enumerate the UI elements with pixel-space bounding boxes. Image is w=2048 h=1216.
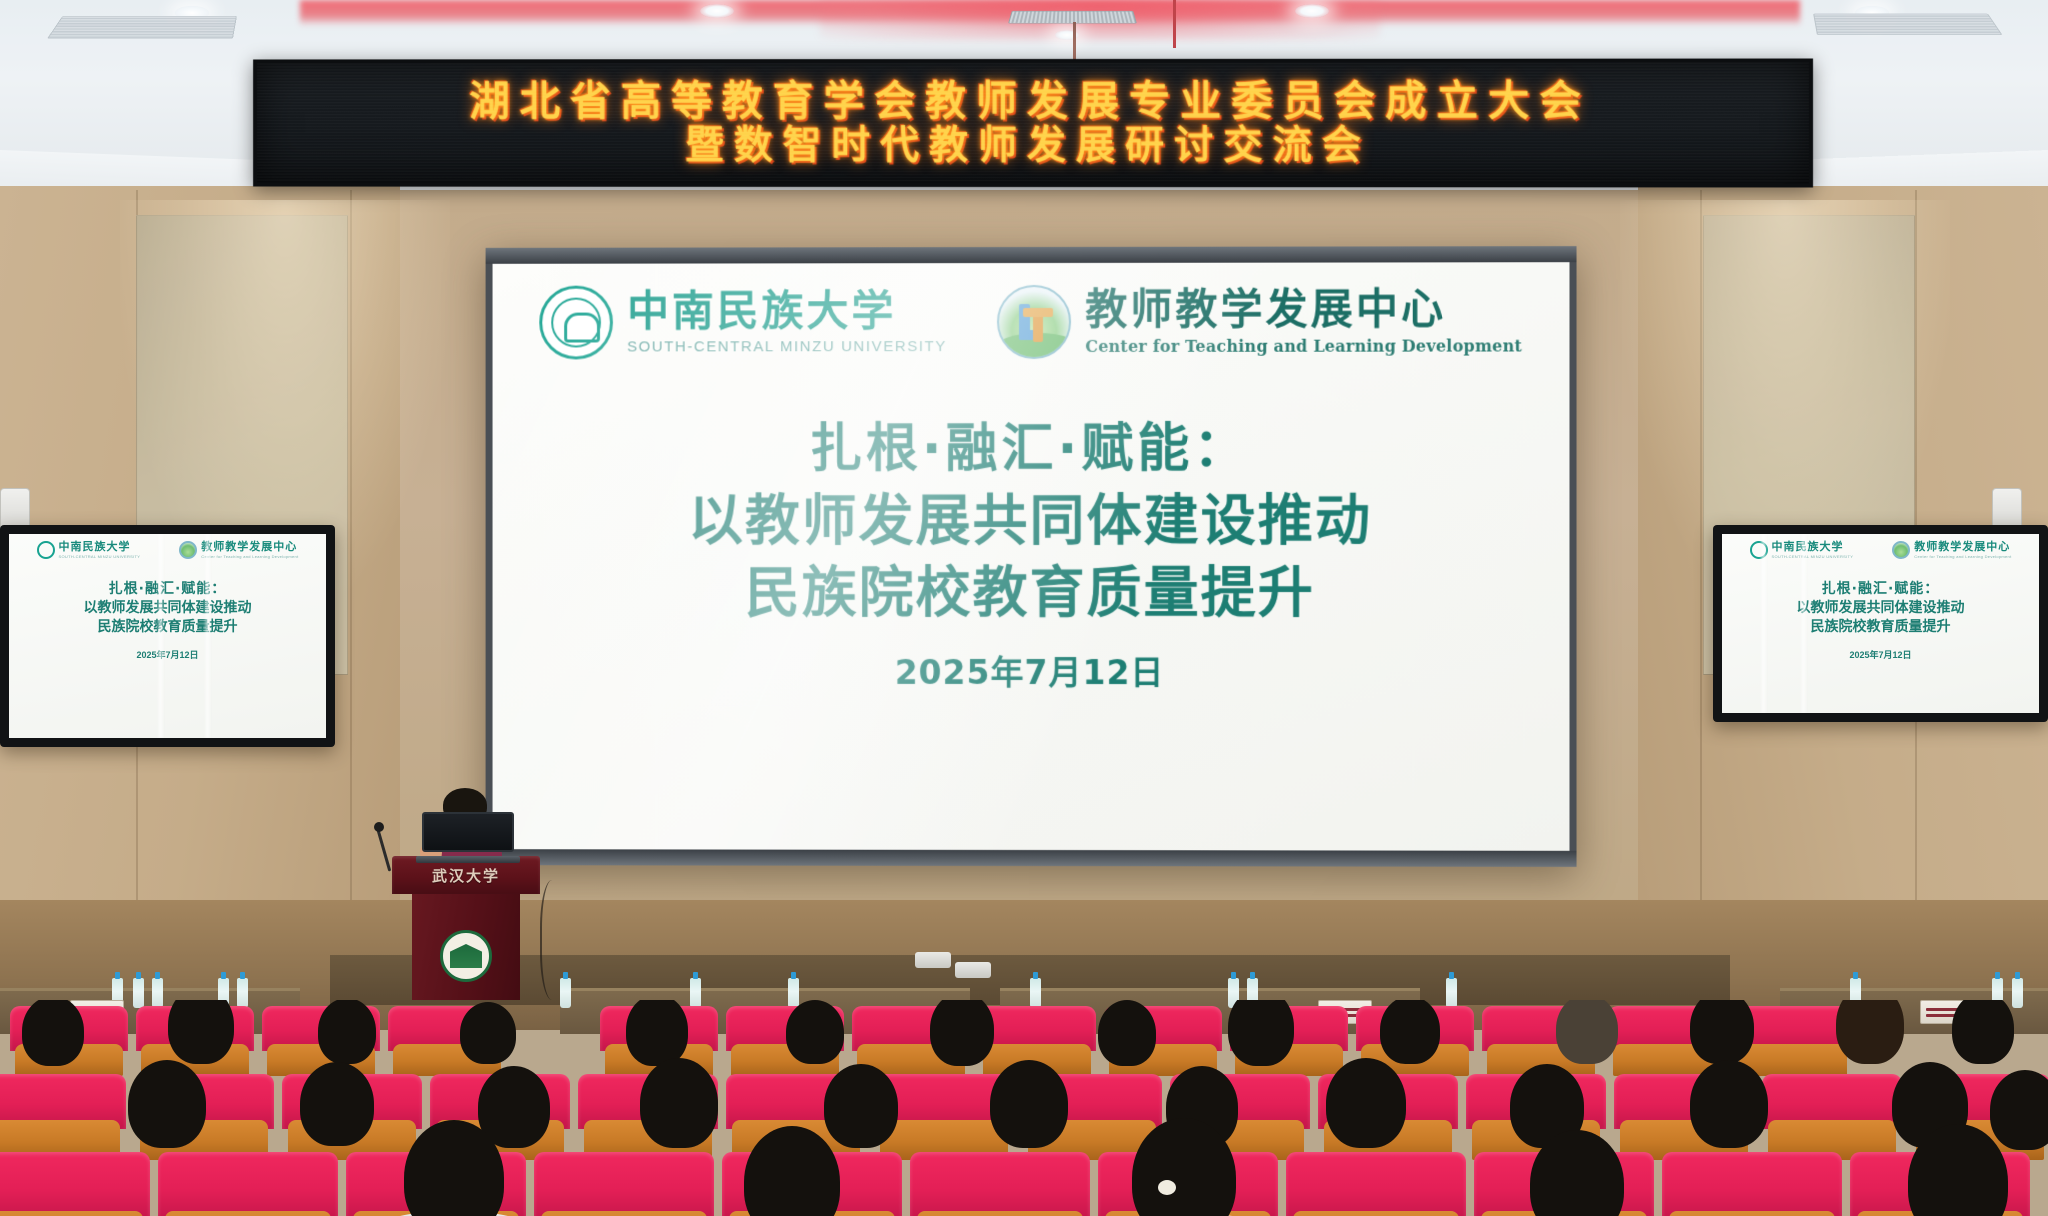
presenter-laptop [416,812,520,858]
side-monitor-left-header: 中南民族大学 SOUTH-CENTRAL MINZU UNIVERSITY 教师… [9,541,326,559]
brand-scmu-text: 中南民族大学 SOUTH-CENTRAL MINZU UNIVERSITY [627,290,947,355]
side-monitor-left-title-line-1: 扎根·融汇·赋能： [9,580,326,599]
ceiling-downlight [1295,4,1329,18]
audience-head [1990,1070,2048,1150]
audience-seat [0,1152,150,1216]
audience-head [1836,1000,1904,1064]
side-monitor-right-screen: 中南民族大学 SOUTH-CENTRAL MINZU UNIVERSITY 教师… [1722,534,2039,713]
side-monitor-right-brand-ctld: 教师教学发展中心 Center for Teaching and Learnin… [1892,541,2011,559]
side-monitor-left-glare [157,534,164,738]
audience-seat [1662,1152,1842,1216]
scmu-seal-logo-icon [539,286,613,360]
led-banner-line-1: 湖北省高等教育学会教师发展专业委员会成立大会 [469,80,1591,122]
side-monitor-right-glare [1800,534,1807,713]
slide-title-line-1: 扎根·融汇·赋能： [493,415,1570,484]
side-monitor-left-scmu-cn: 中南民族大学 [59,541,141,553]
screen-bottom-bar [486,849,1577,867]
brand-scmu-name-en: SOUTH-CENTRAL MINZU UNIVERSITY [627,338,947,355]
slide-title-block: 扎根·融汇·赋能： 以教师发展共同体建设推动 民族院校教育质量提升 [493,415,1570,629]
seat-backrest [0,1152,150,1216]
audience-seat [1286,1152,1466,1216]
seal-gate-shape [450,944,482,968]
ceiling-air-vent [47,16,237,39]
side-monitor-left-brand-ctld: 教师教学发展中心 Center for Teaching and Learnin… [179,541,298,559]
lectern-podium: 武汉大学 [396,856,536,1000]
side-monitor-right-ctld-cn: 教师教学发展中心 [1914,541,2011,553]
side-monitor-left-title: 扎根·融汇·赋能： 以教师发展共同体建设推动 民族院校教育质量提升 [9,580,326,637]
seat-wood-panel [165,1211,331,1216]
side-monitor-left: 中南民族大学 SOUTH-CENTRAL MINZU UNIVERSITY 教师… [0,525,335,747]
audience-head [1326,1058,1406,1148]
side-monitor-right-title-line-2: 以教师发展共同体建设推动 [1722,599,2039,618]
audience-head [318,1000,376,1064]
brand-ctld-text: 教师教学发展中心 Center for Teaching and Learnin… [1085,288,1522,356]
side-monitor-right-scmu-cn: 中南民族大学 [1772,541,1854,553]
led-marquee-banner: 湖北省高等教育学会教师发展专业委员会成立大会 暨数智时代教师发展研讨交流会 [253,58,1813,187]
projection-screen: 中南民族大学 SOUTH-CENTRAL MINZU UNIVERSITY 教师… [493,262,1570,851]
wall-panel-seam [1700,190,1702,970]
audience-head [640,1058,718,1148]
side-monitor-right: 中南民族大学 SOUTH-CENTRAL MINZU UNIVERSITY 教师… [1713,525,2048,722]
audience-seat [158,1152,338,1216]
ctld-letter-t [1033,308,1043,342]
brand-scmu-name-cn: 中南民族大学 [627,290,947,334]
ctld-circle-logo-icon [179,541,197,559]
side-monitor-left-ctld-cn: 教师教学发展中心 [201,541,298,553]
brand-ctld: 教师教学发展中心 Center for Teaching and Learnin… [997,284,1522,359]
screen-top-bar [486,246,1577,264]
seat-backrest [1286,1152,1466,1216]
led-banner-line-2: 暨数智时代教师发展研讨交流会 [685,126,1371,166]
ctld-circle-logo-icon [1892,541,1910,559]
seat-wood-panel [917,1211,1083,1216]
auditorium-scene: 湖北省高等教育学会教师发展专业委员会成立大会 暨数智时代教师发展研讨交流会 中南… [0,0,2048,1216]
seat-wood-panel [1669,1211,1835,1216]
brand-scmu: 中南民族大学 SOUTH-CENTRAL MINZU UNIVERSITY [539,285,947,359]
side-monitor-left-brand-scmu: 中南民族大学 SOUTH-CENTRAL MINZU UNIVERSITY [37,541,141,559]
audience-head [1228,1000,1294,1066]
side-monitor-left-title-line-3: 民族院校教育质量提升 [9,618,326,637]
floor-monitor-box [915,952,951,968]
audience-seating-area [0,1000,2048,1216]
laptop-keyboard-base [416,856,520,863]
side-monitor-right-title-line-3: 民族院校教育质量提升 [1722,618,2039,637]
hair-accessory [1158,1180,1176,1195]
audience-head [22,1000,84,1066]
side-monitor-left-ctld-en: Center for Teaching and Learning Develop… [201,554,298,559]
side-monitor-left-glare [204,534,211,738]
side-monitor-right-ctld-en: Center for Teaching and Learning Develop… [1914,554,2011,559]
audience-seat [534,1152,714,1216]
audience-head [460,1002,516,1064]
seat-wood-panel [541,1211,707,1216]
seat-backrest [910,1152,1090,1216]
audience-head [1952,1000,2014,1064]
audience-head [626,1000,688,1066]
audience-head [1690,1000,1754,1064]
brand-ctld-name-en: Center for Teaching and Learning Develop… [1085,336,1522,356]
side-monitor-right-title-line-1: 扎根·融汇·赋能： [1722,580,2039,599]
ceiling-downlight [700,4,734,18]
audience-head [1380,1000,1440,1064]
audience-head [128,1060,206,1148]
slide-title-line-2: 以教师发展共同体建设推动 [493,483,1570,556]
audience-seat [1762,1074,1902,1160]
side-monitor-left-date: 2025年7月12日 [9,648,326,661]
speaker-hanging-rod [1173,0,1176,48]
audience-head [300,1062,374,1146]
seat-backrest [158,1152,338,1216]
audience-head [1098,1000,1156,1066]
audience-seat [910,1152,1090,1216]
side-monitor-right-scmu-en: SOUTH-CENTRAL MINZU UNIVERSITY [1772,554,1854,559]
audience-head [824,1064,898,1148]
seat-wood-panel [1293,1211,1459,1216]
audience-head [786,1000,844,1064]
audience-head [1556,1000,1618,1064]
side-monitor-left-title-line-2: 以教师发展共同体建设推动 [9,599,326,618]
lectern-front-text: 武汉大学 [392,865,540,886]
projection-screen-frame: 中南民族大学 SOUTH-CENTRAL MINZU UNIVERSITY 教师… [486,246,1577,867]
audience-head [930,1000,994,1066]
seat-backrest [1662,1152,1842,1216]
audience-head [990,1060,1068,1148]
ceiling-air-vent [1813,14,2002,35]
slide-title-line-3: 民族院校教育质量提升 [493,556,1570,629]
wuhan-university-seal-icon [440,930,492,982]
side-monitor-left-screen: 中南民族大学 SOUTH-CENTRAL MINZU UNIVERSITY 教师… [9,534,326,738]
side-monitor-right-title: 扎根·融汇·赋能： 以教师发展共同体建设推动 民族院校教育质量提升 [1722,580,2039,637]
floor-monitor-box [955,962,991,978]
audience-head [1690,1060,1768,1148]
side-monitor-right-date: 2025年7月12日 [1722,648,2039,661]
audience-seat [0,1074,126,1160]
side-monitor-right-glare [1760,534,1767,713]
side-monitor-left-scmu-en: SOUTH-CENTRAL MINZU UNIVERSITY [59,554,141,559]
slide-logo-header: 中南民族大学 SOUTH-CENTRAL MINZU UNIVERSITY 教师… [493,284,1570,359]
side-monitor-right-header: 中南民族大学 SOUTH-CENTRAL MINZU UNIVERSITY 教师… [1722,541,2039,559]
audience-head [168,1000,234,1064]
seat-backrest [534,1152,714,1216]
laptop-screen [422,812,514,852]
microphone-head-icon [374,822,384,832]
scmu-seal-logo-icon [37,541,55,559]
slide-date: 2025年7月12日 [493,646,1570,695]
wall-panel-seam [350,190,352,970]
seat-wood-panel [0,1211,143,1216]
ctld-circle-logo-icon [997,285,1071,359]
brand-ctld-name-cn: 教师教学发展中心 [1085,288,1522,333]
